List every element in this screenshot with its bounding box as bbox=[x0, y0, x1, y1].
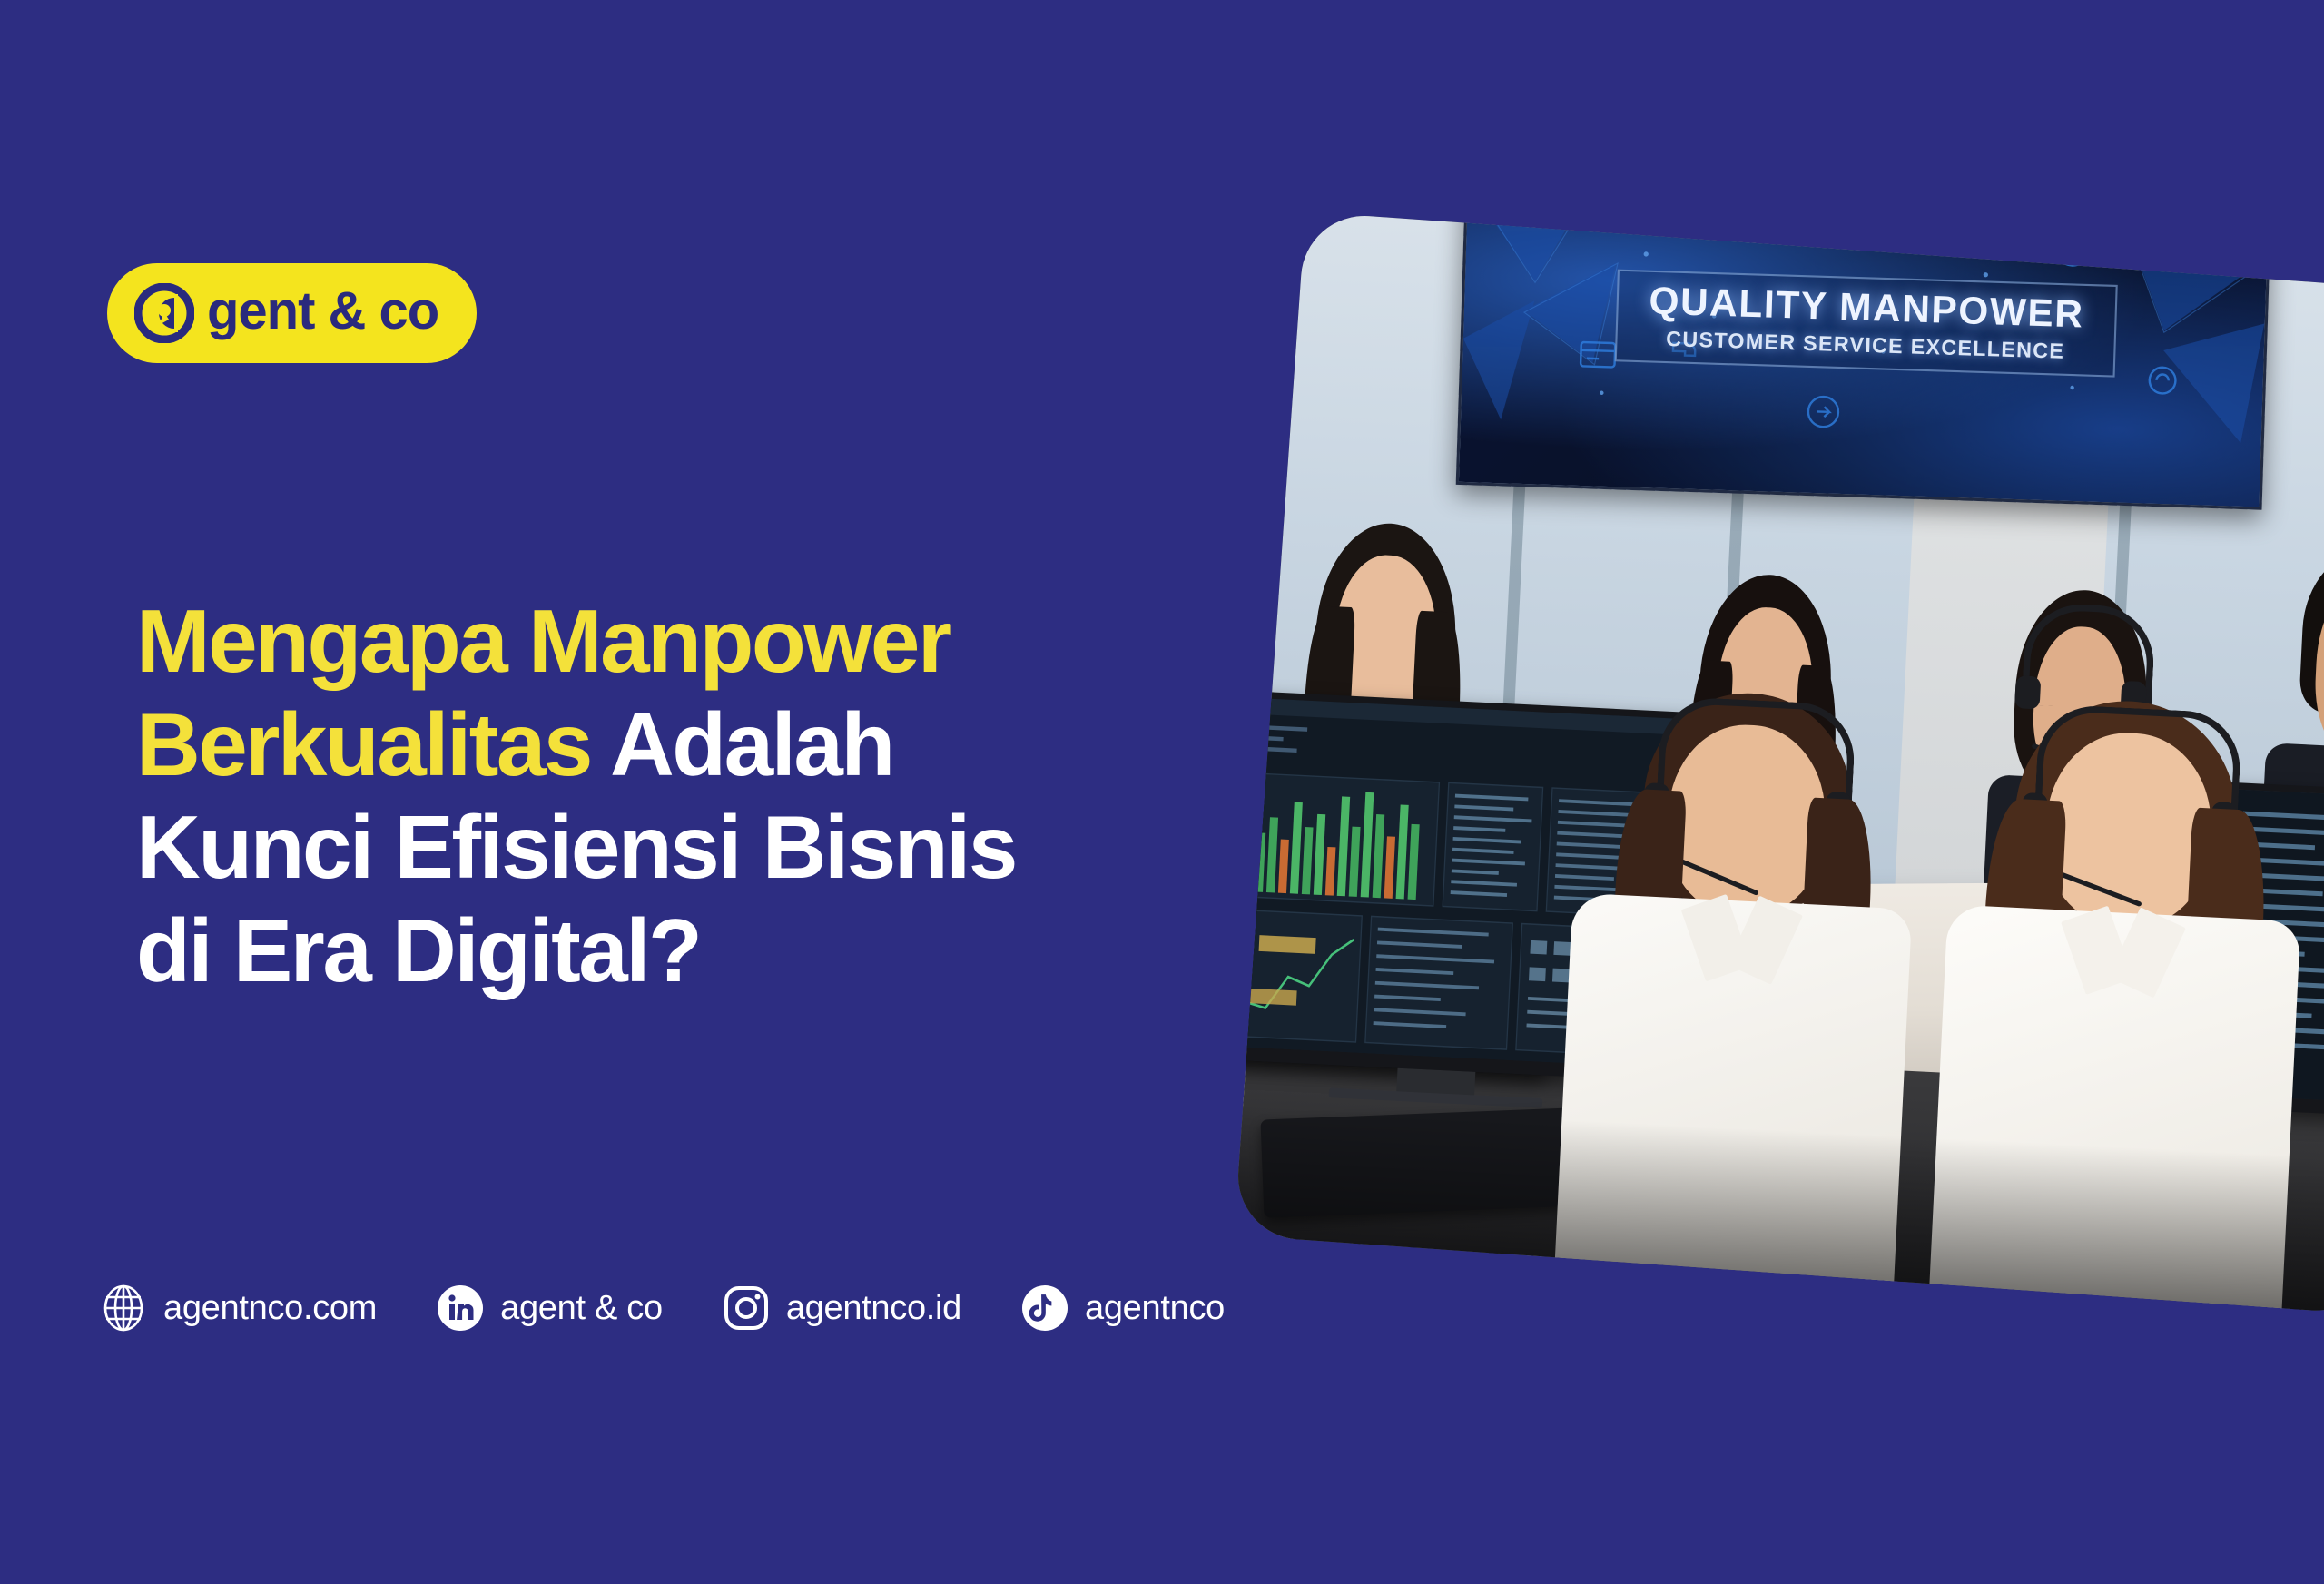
social-website[interactable]: agentnco.com bbox=[100, 1284, 377, 1332]
headline-line-4: di Era Digital? bbox=[136, 900, 1316, 1003]
social-instagram[interactable]: agentnco.id bbox=[723, 1284, 961, 1332]
social-bar: agentnco.com agent & co a bbox=[100, 1284, 1225, 1332]
tiktok-icon bbox=[1021, 1284, 1068, 1332]
headline-line-1: Mengapa Manpower bbox=[136, 590, 1316, 694]
headline-line-3: Kunci Efisiensi Bisnis bbox=[136, 796, 1316, 900]
agent-a-monogram-icon bbox=[134, 283, 194, 343]
social-tiktok-label: agentnco bbox=[1085, 1289, 1225, 1328]
social-linkedin[interactable]: agent & co bbox=[437, 1284, 663, 1332]
social-tiktok[interactable]: agentnco bbox=[1021, 1284, 1225, 1332]
social-website-label: agentnco.com bbox=[163, 1289, 377, 1328]
team-photo: QUALITY MANPOWER CUSTOMER SERVICE EXCELL… bbox=[1234, 212, 2324, 1314]
banner-canvas: QUALITY MANPOWER CUSTOMER SERVICE EXCELL… bbox=[0, 0, 2324, 1584]
logo-badge[interactable]: gent & co bbox=[107, 263, 477, 363]
headline-line-2-accent: Berkualitas bbox=[136, 694, 591, 794]
headline-line-2-tail: Adalah bbox=[610, 694, 893, 794]
instagram-icon bbox=[723, 1284, 770, 1332]
globe-icon bbox=[100, 1284, 147, 1332]
headline-line-2: Berkualitas Adalah bbox=[136, 694, 1316, 797]
wall-display: QUALITY MANPOWER CUSTOMER SERVICE EXCELL… bbox=[1456, 212, 2271, 510]
social-instagram-label: agentnco.id bbox=[786, 1289, 961, 1328]
photo-scene: QUALITY MANPOWER CUSTOMER SERVICE EXCELL… bbox=[1234, 212, 2324, 1314]
display-banner: QUALITY MANPOWER CUSTOMER SERVICE EXCELL… bbox=[1615, 270, 2118, 378]
headline-block: Mengapa Manpower Berkualitas Adalah Kunc… bbox=[136, 590, 1316, 1003]
logo-wordmark: gent & co bbox=[207, 285, 438, 338]
social-linkedin-label: agent & co bbox=[500, 1289, 663, 1328]
linkedin-icon bbox=[437, 1284, 484, 1332]
